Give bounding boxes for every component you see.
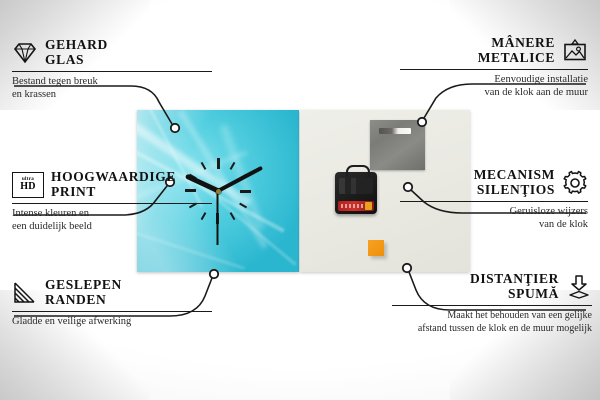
- metal-hanger-plate: [370, 120, 425, 170]
- feature-sub-line1: Eenvoudige installatie: [494, 74, 588, 85]
- feature-title-line1: MECANISM: [474, 167, 555, 182]
- hanger-keyhole-slot: [379, 128, 411, 134]
- feature-title-line2: RANDEN: [45, 292, 106, 307]
- feature-mecanism-silentios: MECANISM SILENŢIOS Geruisloze wijzers va…: [400, 168, 588, 231]
- battery: [338, 201, 374, 211]
- diamond-icon: [12, 40, 38, 66]
- divider: [400, 201, 588, 202]
- divider: [12, 71, 212, 72]
- feature-title-line1: DISTANŢIER: [470, 271, 559, 286]
- feature-hoogwaardige-print: ultra HD HOOGWAARDIGE PRINT Intense kleu…: [12, 170, 212, 233]
- feature-sub-line2: en krassen: [12, 89, 56, 100]
- infographic-canvas: GEHARD GLAS Bestand tegen breuk en krass…: [0, 0, 600, 400]
- feature-sub-line1: Gladde en veilige afwerking: [12, 316, 131, 327]
- clock-center-pivot: [216, 189, 221, 194]
- ultra-hd-icon-bottom: HD: [20, 182, 35, 192]
- feature-sub-line1: Bestand tegen breuk: [12, 76, 98, 87]
- clock-movement-housing: [335, 172, 377, 214]
- feature-title-line1: GEHARD: [45, 37, 108, 52]
- feature-sub-line1: Intense kleuren en: [12, 208, 89, 219]
- divider: [392, 305, 592, 306]
- divider: [12, 203, 212, 204]
- foam-spacer: [368, 240, 384, 256]
- movement-detail: [339, 178, 373, 194]
- feature-title-line2: SPUMĂ: [508, 286, 559, 301]
- feature-sub-line2: afstand tussen de klok en de muur mogeli…: [418, 323, 592, 334]
- feature-title-line2: METALICE: [478, 50, 555, 65]
- feature-sub-line1: Maakt het behouden van een gelijke: [447, 310, 592, 321]
- feature-sub-line2: een duidelijk beeld: [12, 221, 92, 232]
- feature-title-line1: HOOGWAARDIGE: [51, 169, 176, 184]
- feature-title-line1: GESLEPEN: [45, 277, 122, 292]
- battery-label: [341, 204, 363, 208]
- ultra-hd-icon: ultra HD: [12, 172, 44, 198]
- divider: [12, 311, 212, 312]
- feature-manere-metalice: MÂNERE METALICE Eenvoudige installatie v…: [400, 36, 588, 99]
- feature-distantier-spuma: DISTANŢIER SPUMĂ Maakt het behouden van …: [392, 272, 592, 335]
- battery-plus-terminal: [365, 202, 372, 210]
- feature-title-line2: PRINT: [51, 184, 96, 199]
- picture-frame-hanger-icon: [562, 38, 588, 64]
- feature-geslepen-randen: GESLEPEN RANDEN Gladde en veilige afwerk…: [12, 278, 212, 328]
- feature-title-line2: GLAS: [45, 52, 84, 67]
- feature-title-line2: SILENŢIOS: [477, 182, 555, 197]
- hanger-loop: [346, 165, 370, 177]
- divider: [400, 69, 588, 70]
- feature-title-line1: MÂNERE: [491, 35, 555, 50]
- beveled-edge-icon: [12, 280, 38, 306]
- feature-sub-line2: van de klok aan de muur: [484, 87, 588, 98]
- feature-gehard-glas: GEHARD GLAS Bestand tegen breuk en krass…: [12, 38, 212, 101]
- feature-sub-line1: Geruisloze wijzers: [510, 206, 588, 217]
- feature-sub-line2: van de klok: [539, 219, 588, 230]
- gear-icon: [562, 170, 588, 196]
- arrow-down-layers-icon: [566, 274, 592, 300]
